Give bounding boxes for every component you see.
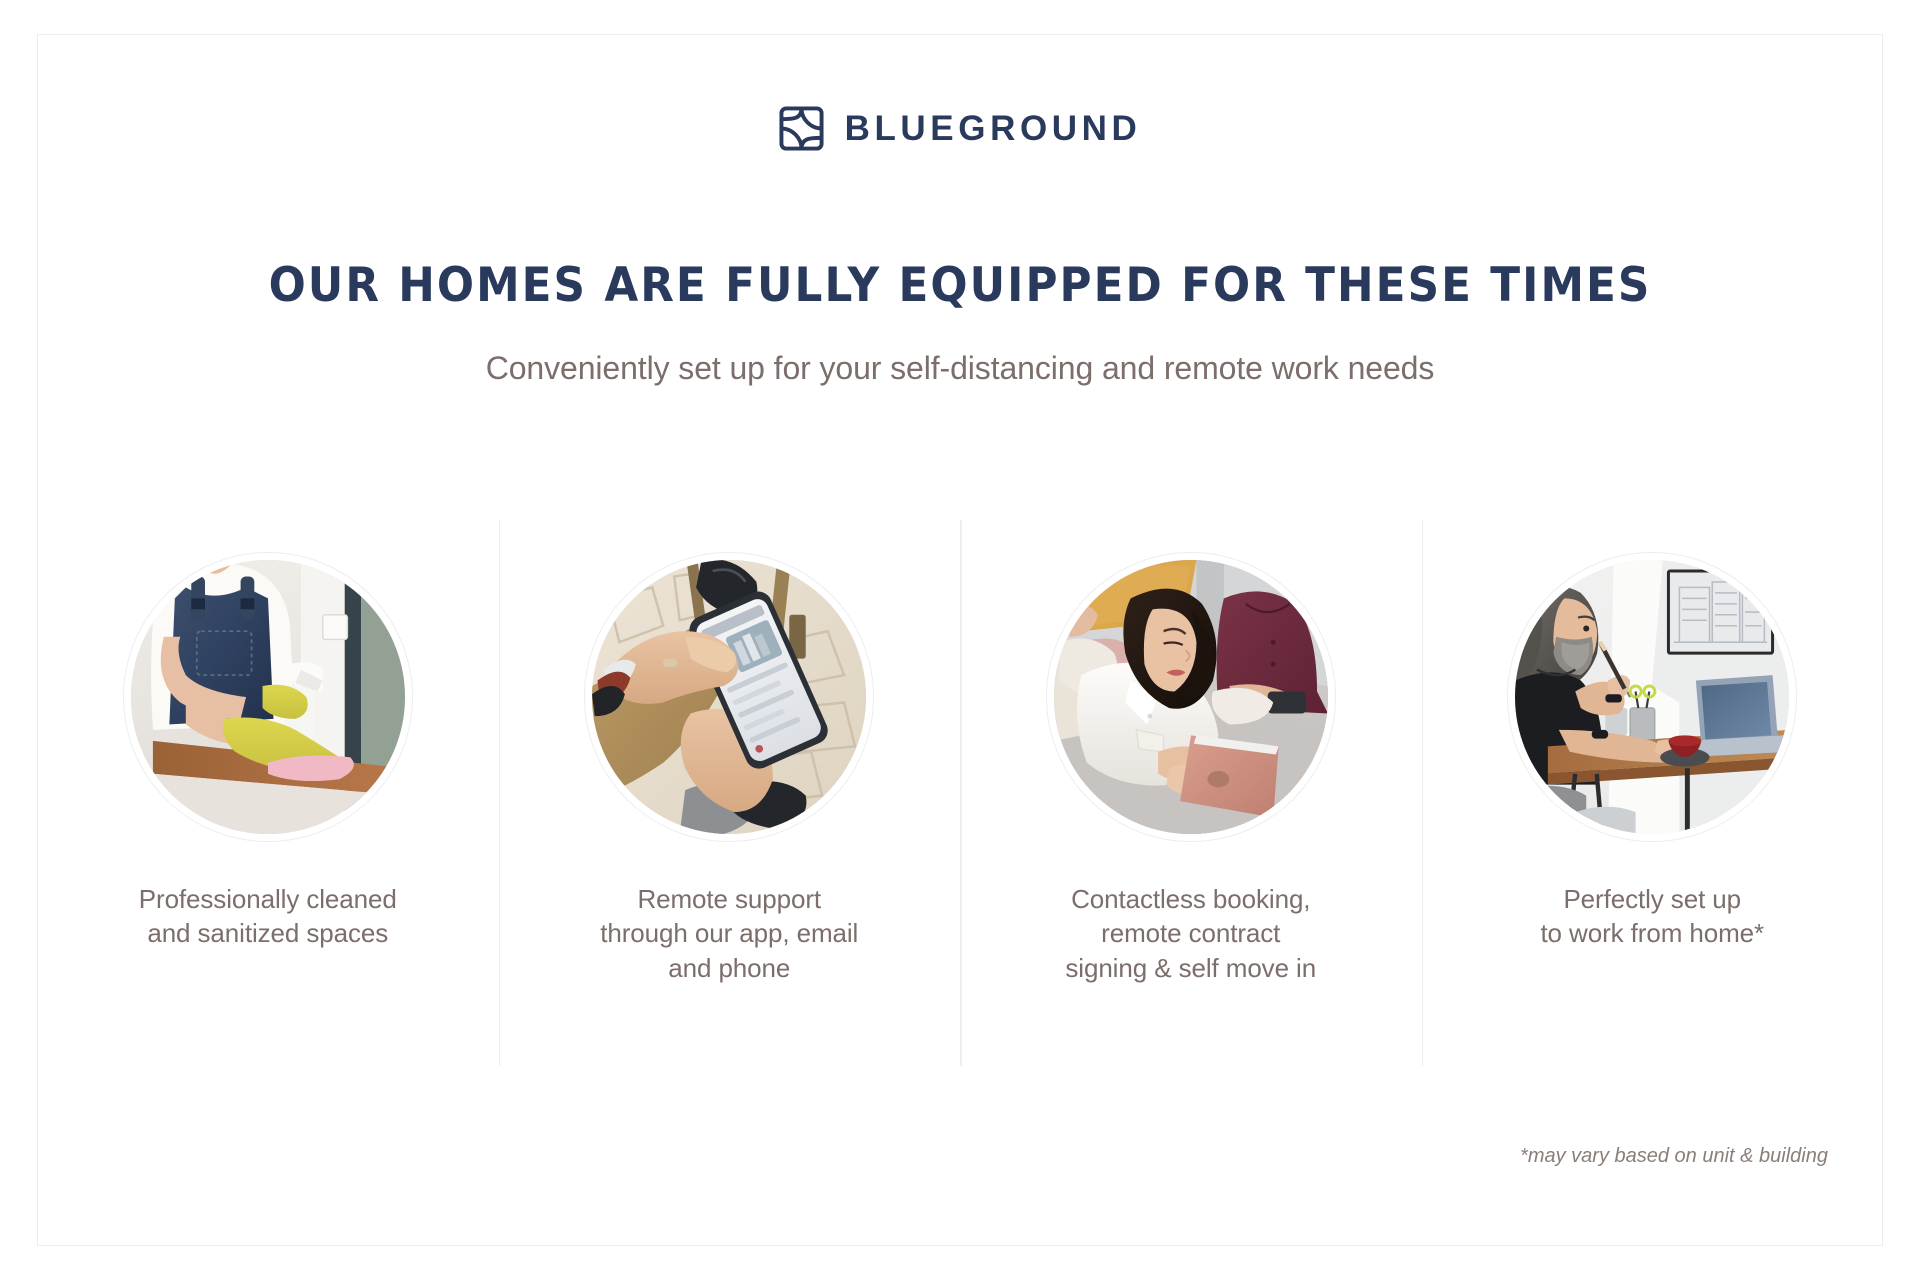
feature-column-contactless-booking: Contactless booking, remote contract sig…: [960, 520, 1422, 1066]
footnote-disclaimer: *may vary based on unit & building: [1520, 1145, 1828, 1168]
feature-caption: Remote support through our app, email an…: [600, 882, 858, 985]
contactless-booking-photo: [1054, 560, 1328, 834]
photo-ring: [1507, 552, 1797, 842]
cleaning-photo: [131, 560, 405, 834]
feature-grid: Professionally cleaned and sanitized spa…: [37, 520, 1883, 1066]
feature-column-work-from-home: Perfectly set up to work from home*: [1422, 520, 1884, 1066]
photo-ring: [584, 552, 874, 842]
feature-caption: Contactless booking, remote contract sig…: [1065, 882, 1316, 985]
remote-support-photo: [592, 560, 866, 834]
feature-caption: Professionally cleaned and sanitized spa…: [139, 882, 397, 951]
photo-ring: [123, 552, 413, 842]
infographic-page: BLUEGROUND OUR HOMES ARE FULLY EQUIPPED …: [0, 0, 1920, 1280]
brand-logo[interactable]: BLUEGROUND: [0, 106, 1920, 151]
brand-wordmark: BLUEGROUND: [845, 111, 1142, 146]
photo-ring: [1046, 552, 1336, 842]
page-subtitle: Conveniently set up for your self-distan…: [0, 350, 1920, 387]
work-from-home-photo: [1515, 560, 1789, 834]
page-title: OUR HOMES ARE FULLY EQUIPPED FOR THESE T…: [67, 258, 1853, 313]
feature-column-remote-support: Remote support through our app, email an…: [499, 520, 961, 1066]
blueground-square-mark-icon: [779, 106, 824, 151]
feature-column-cleaning: Professionally cleaned and sanitized spa…: [37, 520, 499, 1066]
feature-caption: Perfectly set up to work from home*: [1540, 882, 1764, 951]
